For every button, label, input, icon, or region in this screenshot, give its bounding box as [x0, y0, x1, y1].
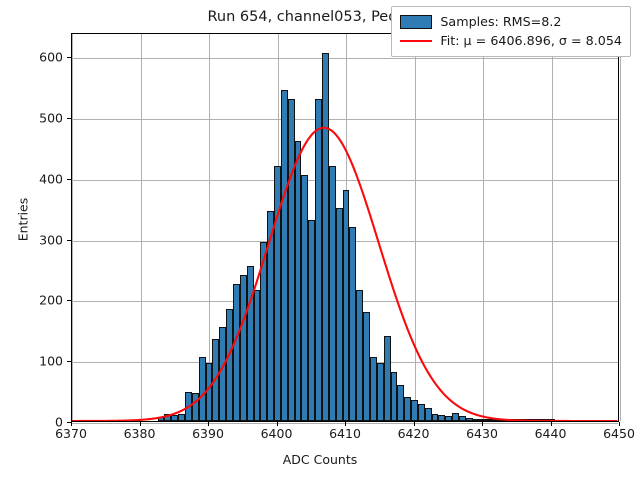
histogram-figure: Run 654, channel053, Pedestal 6370638063…: [0, 0, 640, 480]
x-axis-tick-label: 6430: [466, 426, 498, 441]
gaussian-fit-curve: [72, 34, 618, 421]
y-axis-tick-label: 0: [5, 415, 63, 430]
y-axis-tick-label: 100: [5, 354, 63, 369]
x-axis-tick-label: 6450: [603, 426, 635, 441]
y-axis-tick-label: 300: [5, 232, 63, 247]
y-axis-tick: [67, 118, 71, 119]
y-axis-tick: [67, 300, 71, 301]
y-axis-tick: [67, 179, 71, 180]
x-axis-tick-label: 6400: [261, 426, 293, 441]
x-axis-tick-label: 6380: [124, 426, 156, 441]
x-axis-tick-label: 6410: [329, 426, 361, 441]
legend: Samples: RMS=8.2 Fit: μ = 6406.896, σ = …: [391, 6, 631, 57]
legend-swatch-samples: [400, 15, 432, 29]
legend-label-samples: Samples: RMS=8.2: [440, 14, 561, 29]
y-axis-tick: [67, 240, 71, 241]
y-axis-tick-label: 500: [5, 111, 63, 126]
legend-item-fit: Fit: μ = 6406.896, σ = 8.054: [400, 31, 622, 50]
y-axis-tick-label: 200: [5, 293, 63, 308]
x-axis-tick-label: 6420: [398, 426, 430, 441]
y-axis-label: Entries: [16, 120, 31, 320]
y-axis-tick-label: 400: [5, 171, 63, 186]
y-axis-tick: [67, 422, 71, 423]
fit-path: [72, 128, 618, 421]
legend-swatch-fit: [400, 34, 432, 48]
x-axis-label: ADC Counts: [0, 452, 640, 467]
gridline-vertical: [620, 34, 621, 421]
x-axis-tick-label: 6390: [192, 426, 224, 441]
x-axis-tick-label: 6440: [535, 426, 567, 441]
y-axis-tick-label: 600: [5, 50, 63, 65]
legend-label-fit: Fit: μ = 6406.896, σ = 8.054: [440, 33, 622, 48]
plot-area: [71, 33, 619, 422]
y-axis-tick: [67, 57, 71, 58]
legend-item-samples: Samples: RMS=8.2: [400, 12, 622, 31]
y-axis-tick: [67, 361, 71, 362]
